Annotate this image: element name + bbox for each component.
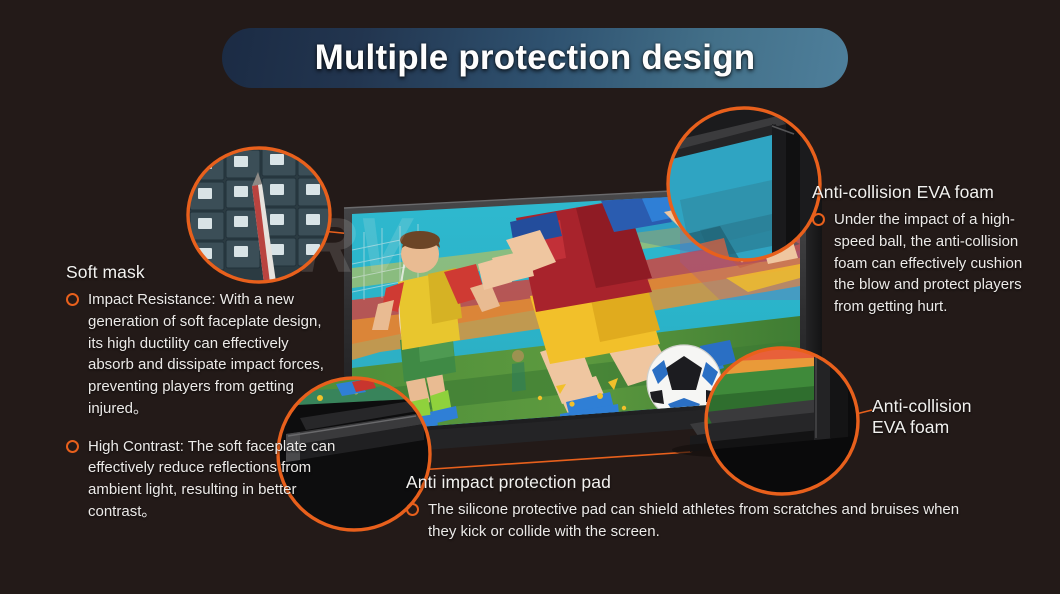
callout-text-soft-mask: Soft mask Impact Resistance: With a new …: [66, 262, 338, 523]
bullet-ring-icon: [812, 213, 825, 226]
callout-text-protection-pad: Anti impact protection pad The silicone …: [406, 472, 986, 543]
bullet-text: Impact Resistance: With a new generation…: [88, 289, 338, 420]
page-title-banner: Multiple protection design: [222, 28, 848, 88]
callout-text-eva-foam-top: Anti-collision EVA foam Under the impact…: [812, 182, 1034, 318]
bullet-text: Under the impact of a high-speed ball, t…: [834, 209, 1034, 318]
callout-heading-eva-foam-bottom-line2: EVA foam: [872, 417, 1052, 438]
bullet-text: High Contrast: The soft faceplate can ef…: [88, 436, 338, 523]
callout-heading-eva-foam-bottom-line1: Anti-collision: [872, 396, 1052, 417]
callout-heading-eva-foam-top: Anti-collision EVA foam: [812, 182, 1034, 203]
bullet-item: High Contrast: The soft faceplate can ef…: [66, 436, 338, 523]
bullet-ring-icon: [406, 503, 419, 516]
page-title: Multiple protection design: [315, 38, 756, 78]
callout-heading-protection-pad: Anti impact protection pad: [406, 472, 986, 493]
bullet-text: The silicone protective pad can shield a…: [428, 499, 986, 543]
bullet-item: The silicone protective pad can shield a…: [406, 499, 986, 543]
bullet-ring-icon: [66, 440, 79, 453]
bullet-item: Impact Resistance: With a new generation…: [66, 289, 338, 420]
player-distant: [512, 350, 526, 392]
callout-circle-eva-foam-top: [668, 108, 820, 260]
callout-text-eva-foam-bottom: Anti-collision EVA foam: [872, 396, 1052, 444]
callout-heading-soft-mask: Soft mask: [66, 262, 338, 283]
bullet-ring-icon: [66, 293, 79, 306]
bullet-item: Under the impact of a high-speed ball, t…: [812, 209, 1034, 318]
